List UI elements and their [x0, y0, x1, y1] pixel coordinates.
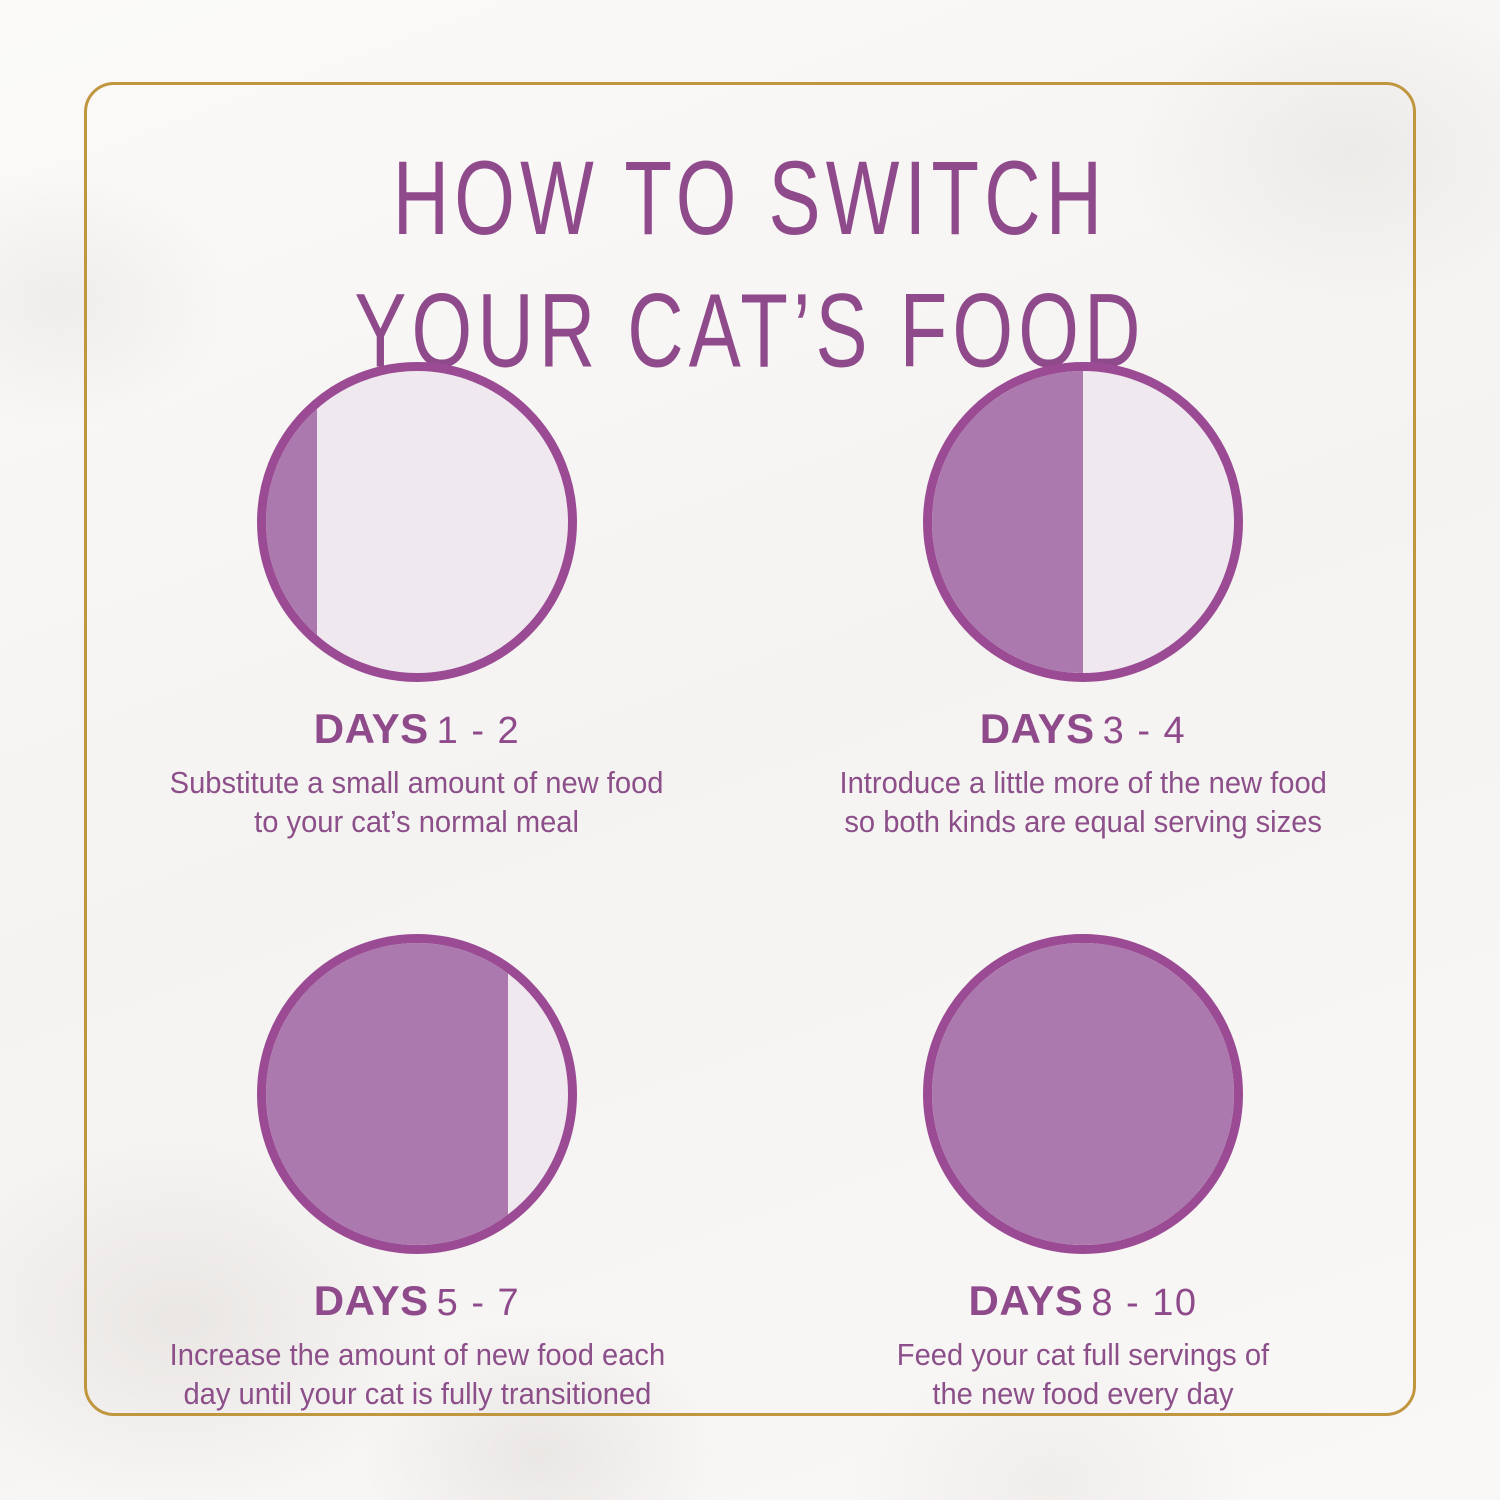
step-heading-4: DAYS8 - 10 — [968, 1280, 1197, 1322]
step-days-5-7: DAYS5 - 7 Increase the amount of new foo… — [84, 934, 750, 1414]
step-days-3-4: DAYS3 - 4 Introduce a little more of the… — [750, 362, 1416, 842]
step-caption-1: Substitute a small amount of new food to… — [170, 764, 664, 842]
food-ratio-circle-1 — [257, 362, 577, 682]
page-title: HOW TO SWITCH YOUR CAT’S FOOD — [124, 132, 1376, 398]
new-food-fill-4 — [932, 939, 1234, 1249]
days-range-2: 3 - 4 — [1103, 710, 1187, 752]
steps-grid: DAYS1 - 2 Substitute a small amount of n… — [84, 362, 1416, 1414]
food-ratio-circle-3 — [257, 934, 577, 1254]
days-word-3: DAYS — [314, 1277, 429, 1324]
infographic-page: HOW TO SWITCH YOUR CAT’S FOOD DAYS1 - 2 … — [0, 0, 1500, 1500]
step-days-1-2: DAYS1 - 2 Substitute a small amount of n… — [84, 362, 750, 842]
food-ratio-circle-2 — [923, 362, 1243, 682]
days-range-1: 1 - 2 — [437, 710, 521, 752]
step-heading-2: DAYS3 - 4 — [980, 708, 1186, 750]
days-word-1: DAYS — [314, 705, 429, 752]
step-heading-1: DAYS1 - 2 — [314, 708, 520, 750]
infographic-content: HOW TO SWITCH YOUR CAT’S FOOD DAYS1 - 2 … — [84, 82, 1416, 1416]
step-heading-3: DAYS5 - 7 — [314, 1280, 520, 1322]
step-caption-3: Increase the amount of new food each day… — [169, 1336, 664, 1414]
days-word-2: DAYS — [980, 705, 1095, 752]
new-food-fill-2 — [932, 367, 1083, 677]
step-caption-4: Feed your cat full servings of the new f… — [897, 1336, 1269, 1414]
new-food-fill-1 — [266, 367, 317, 677]
days-range-3: 5 - 7 — [437, 1282, 521, 1324]
days-range-4: 8 - 10 — [1091, 1282, 1197, 1324]
new-food-fill-3 — [266, 939, 508, 1249]
step-days-8-10: DAYS8 - 10 Feed your cat full servings o… — [750, 934, 1416, 1414]
food-ratio-circle-4 — [923, 934, 1243, 1254]
days-word-4: DAYS — [968, 1277, 1083, 1324]
step-caption-2: Introduce a little more of the new food … — [839, 764, 1326, 842]
